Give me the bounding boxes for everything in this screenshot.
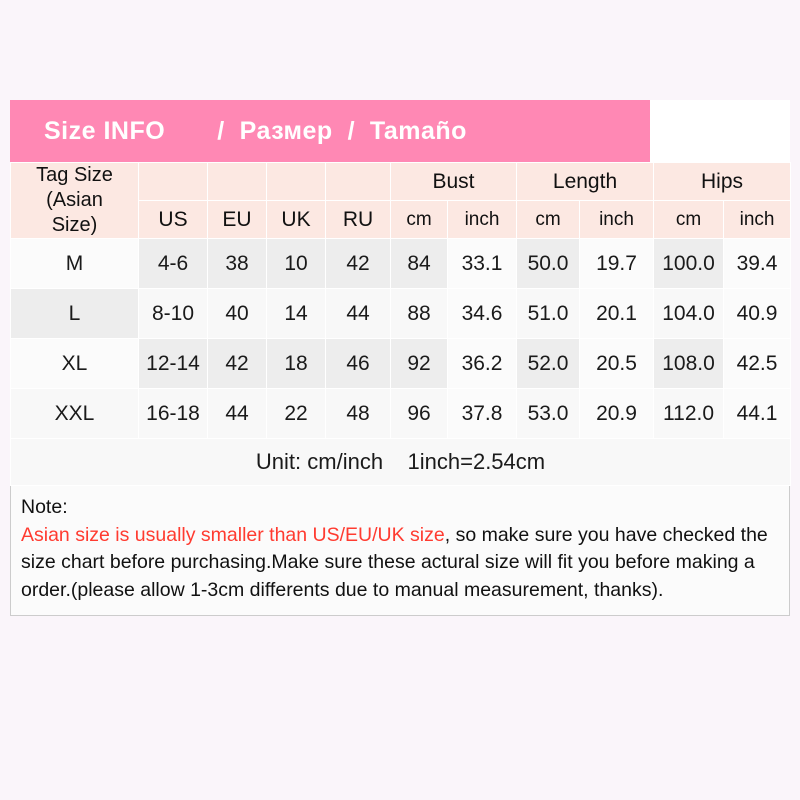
header-us: US [139, 201, 208, 239]
table-row: M 4-6 38 10 42 84 33.1 50.0 19.7 100.0 3… [11, 239, 791, 289]
note-title: Note: [21, 494, 779, 522]
cell-tag: L [11, 289, 139, 339]
header-spacer-ru [326, 163, 391, 201]
cell-ru: 46 [326, 339, 391, 389]
cell-tag: XL [11, 339, 139, 389]
cell-hips-cm: 108.0 [654, 339, 724, 389]
cell-bust-inch: 34.6 [448, 289, 517, 339]
header-hips: Hips [654, 163, 791, 201]
cell-uk: 14 [267, 289, 326, 339]
note-body: Asian size is usually smaller than US/EU… [21, 522, 779, 605]
header-spacer-eu [208, 163, 267, 201]
note-red-text: Asian size is usually smaller than US/EU… [21, 524, 445, 546]
header-length-inch: inch [580, 201, 654, 239]
cell-uk: 10 [267, 239, 326, 289]
cell-uk: 22 [267, 389, 326, 439]
cell-hips-inch: 44.1 [724, 389, 791, 439]
size-table: Tag Size (Asian Size) Bust Length Hips U… [10, 162, 791, 486]
cell-us: 4-6 [139, 239, 208, 289]
header-tag-size: Tag Size (Asian Size) [11, 163, 139, 239]
header-hips-cm: cm [654, 201, 724, 239]
cell-uk: 18 [267, 339, 326, 389]
cell-bust-cm: 84 [391, 239, 448, 289]
table-row: XXL 16-18 44 22 48 96 37.8 53.0 20.9 112… [11, 389, 791, 439]
cell-hips-inch: 40.9 [724, 289, 791, 339]
cell-eu: 42 [208, 339, 267, 389]
cell-length-cm: 53.0 [517, 389, 580, 439]
size-info-banner: Size INFO / Размер / Tamaño [10, 100, 650, 162]
table-unit-row: Unit: cm/inch 1inch=2.54cm [11, 439, 791, 486]
cell-bust-cm: 96 [391, 389, 448, 439]
banner-white-gap [650, 100, 790, 162]
table-group-header-row: Tag Size (Asian Size) Bust Length Hips [11, 163, 791, 201]
cell-ru: 48 [326, 389, 391, 439]
header-bust-cm: cm [391, 201, 448, 239]
header-length: Length [517, 163, 654, 201]
banner-row: Size INFO / Размер / Tamaño [10, 100, 790, 162]
header-uk: UK [267, 201, 326, 239]
cell-bust-cm: 88 [391, 289, 448, 339]
cell-us: 16-18 [139, 389, 208, 439]
header-length-cm: cm [517, 201, 580, 239]
cell-eu: 40 [208, 289, 267, 339]
header-spacer-uk [267, 163, 326, 201]
cell-eu: 44 [208, 389, 267, 439]
cell-hips-inch: 39.4 [724, 239, 791, 289]
cell-bust-cm: 92 [391, 339, 448, 389]
table-row: L 8-10 40 14 44 88 34.6 51.0 20.1 104.0 … [11, 289, 791, 339]
header-bust: Bust [391, 163, 517, 201]
cell-bust-inch: 37.8 [448, 389, 517, 439]
cell-bust-inch: 33.1 [448, 239, 517, 289]
note-box: Note: Asian size is usually smaller than… [10, 486, 790, 616]
cell-length-inch: 20.1 [580, 289, 654, 339]
cell-us: 8-10 [139, 289, 208, 339]
cell-length-inch: 20.9 [580, 389, 654, 439]
cell-tag: XXL [11, 389, 139, 439]
cell-length-inch: 19.7 [580, 239, 654, 289]
cell-hips-inch: 42.5 [724, 339, 791, 389]
header-ru: RU [326, 201, 391, 239]
cell-ru: 42 [326, 239, 391, 289]
size-chart: Size INFO / Размер / Tamaño Tag Size (As… [10, 100, 790, 616]
banner-title: Size INFO / Размер / Tamaño [44, 117, 467, 146]
cell-us: 12-14 [139, 339, 208, 389]
header-bust-inch: inch [448, 201, 517, 239]
unit-note: Unit: cm/inch 1inch=2.54cm [11, 439, 791, 486]
cell-length-cm: 50.0 [517, 239, 580, 289]
cell-tag: M [11, 239, 139, 289]
header-eu: EU [208, 201, 267, 239]
cell-hips-cm: 112.0 [654, 389, 724, 439]
cell-length-cm: 52.0 [517, 339, 580, 389]
cell-ru: 44 [326, 289, 391, 339]
header-hips-inch: inch [724, 201, 791, 239]
cell-hips-cm: 104.0 [654, 289, 724, 339]
cell-hips-cm: 100.0 [654, 239, 724, 289]
cell-length-cm: 51.0 [517, 289, 580, 339]
cell-length-inch: 20.5 [580, 339, 654, 389]
cell-eu: 38 [208, 239, 267, 289]
header-spacer-us [139, 163, 208, 201]
cell-bust-inch: 36.2 [448, 339, 517, 389]
table-row: XL 12-14 42 18 46 92 36.2 52.0 20.5 108.… [11, 339, 791, 389]
